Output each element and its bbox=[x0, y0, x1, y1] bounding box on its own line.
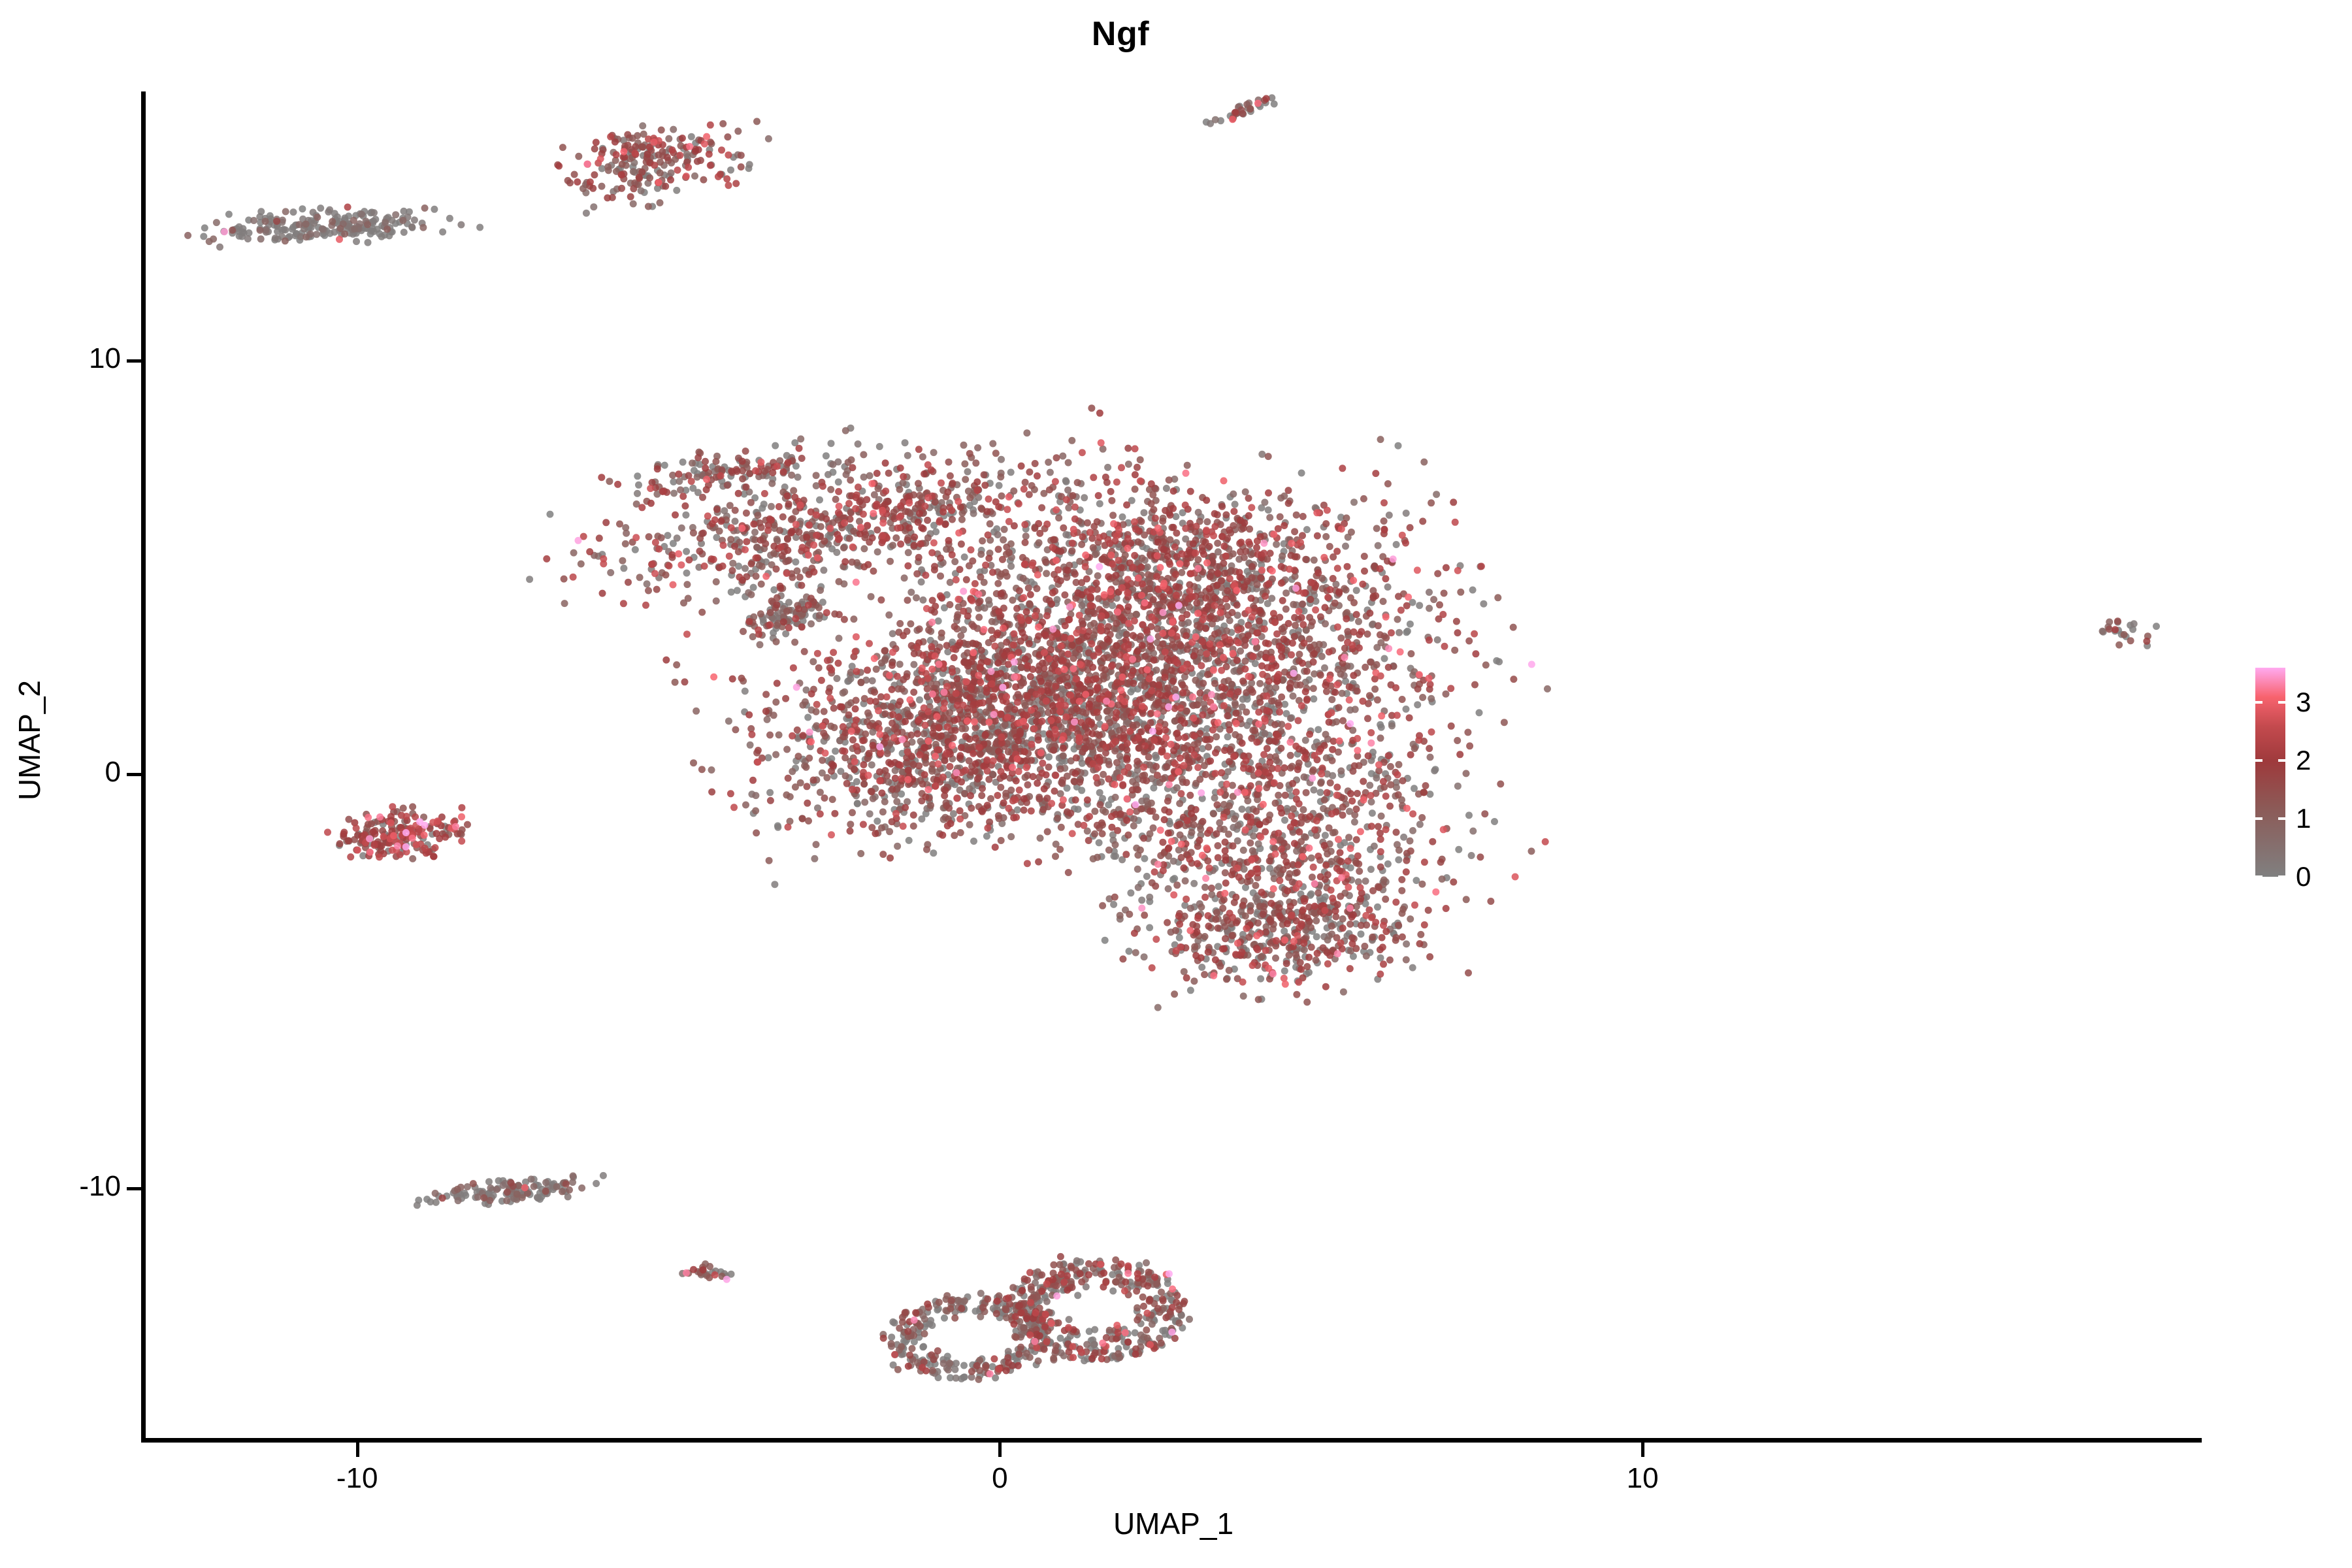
scatter-points-layer bbox=[145, 91, 2202, 1441]
x-tick-mark bbox=[1641, 1443, 1644, 1457]
legend-tick-mark bbox=[2255, 701, 2262, 704]
plot-panel bbox=[145, 91, 2202, 1441]
legend-tick-label: 2 bbox=[2296, 747, 2311, 774]
x-tick-label: 0 bbox=[934, 1462, 1065, 1495]
x-tick-mark bbox=[356, 1443, 359, 1457]
legend-tick-mark bbox=[2278, 759, 2285, 762]
legend-tick-mark bbox=[2278, 817, 2285, 820]
legend-tick-label: 0 bbox=[2296, 863, 2311, 890]
x-tick-mark bbox=[998, 1443, 1002, 1457]
legend-tick-label: 3 bbox=[2296, 689, 2311, 716]
y-tick-mark bbox=[127, 359, 141, 363]
legend-tick-mark bbox=[2278, 701, 2285, 704]
legend-tick-mark bbox=[2255, 875, 2262, 878]
legend-tick-label: 1 bbox=[2296, 805, 2311, 832]
x-axis-title: UMAP_1 bbox=[145, 1506, 2202, 1541]
legend-colorbar bbox=[2255, 668, 2285, 877]
legend-tick-mark bbox=[2255, 759, 2262, 762]
y-axis-line bbox=[141, 91, 146, 1443]
y-tick-mark bbox=[127, 773, 141, 776]
y-axis-title: UMAP_2 bbox=[12, 414, 47, 1067]
legend-tick-mark bbox=[2255, 817, 2262, 820]
y-tick-label: -10 bbox=[0, 1170, 121, 1203]
x-tick-label: -10 bbox=[292, 1462, 423, 1495]
umap-feature-plot: Ngf -10010 -10010 UMAP_1 UMAP_2 0123 bbox=[0, 0, 2352, 1568]
y-tick-mark bbox=[127, 1187, 141, 1190]
x-axis-line bbox=[141, 1438, 2202, 1443]
y-tick-label: 10 bbox=[0, 342, 121, 375]
page-title: Ngf bbox=[0, 14, 2241, 54]
legend-tick-mark bbox=[2278, 875, 2285, 878]
x-tick-label: 10 bbox=[1577, 1462, 1708, 1495]
